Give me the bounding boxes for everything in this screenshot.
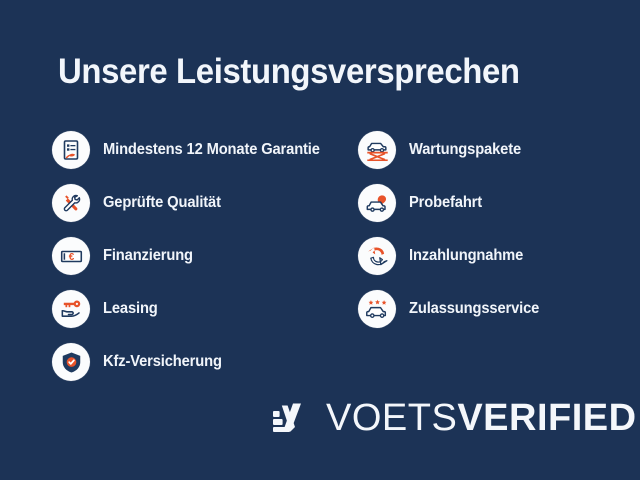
- benefit-label: Kfz-Versicherung: [103, 353, 222, 371]
- logo-verified: VERIFIED: [457, 397, 636, 439]
- promo-banner: Unsere Leistungsversprechen Mindestens: [0, 0, 640, 480]
- car-with-stars-icon: [358, 290, 396, 328]
- benefit-item-zulassungsservice: Zulassungsservice: [358, 283, 640, 335]
- svg-text:€: €: [68, 252, 74, 263]
- benefits-column-right: Wartungspakete Probefahrt: [330, 124, 640, 389]
- key-in-hand-icon: [52, 290, 90, 328]
- benefit-label: Mindestens 12 Monate Garantie: [103, 141, 320, 159]
- wrench-screwdriver-icon: [52, 184, 90, 222]
- benefit-item-qualitaet: Geprüfte Qualität: [52, 177, 330, 229]
- benefits-columns: Mindestens 12 Monate Garantie Geprüfte Q…: [0, 124, 640, 389]
- benefit-item-inzahlungnahme: Inzahlungnahme: [358, 230, 640, 282]
- voets-verified-logo: VOETSVERIFIED: [268, 396, 637, 440]
- benefit-item-probefahrt: Probefahrt: [358, 177, 640, 229]
- benefit-label: Probefahrt: [409, 194, 482, 212]
- logo-voets: VOETS: [326, 397, 457, 439]
- shield-check-icon: [52, 343, 90, 381]
- benefit-item-garantie: Mindestens 12 Monate Garantie: [52, 124, 330, 176]
- benefit-item-wartungspakete: Wartungspakete: [358, 124, 640, 176]
- benefit-item-versicherung: Kfz-Versicherung: [52, 336, 330, 388]
- benefit-item-finanzierung: € Finanzierung: [52, 230, 330, 282]
- voets-check-v-icon: [268, 396, 312, 440]
- benefit-label: Inzahlungnahme: [409, 247, 523, 265]
- benefit-item-leasing: Leasing: [52, 283, 330, 335]
- benefit-label: Geprüfte Qualität: [103, 194, 221, 212]
- page-title: Unsere Leistungsversprechen: [58, 52, 520, 92]
- euro-banknote-icon: €: [52, 237, 90, 275]
- exchange-arrows-icon: [358, 237, 396, 275]
- benefit-label: Finanzierung: [103, 247, 193, 265]
- logo-wordmark: VOETSVERIFIED: [326, 399, 637, 437]
- car-on-lift-icon: [358, 131, 396, 169]
- benefit-label: Zulassungsservice: [409, 300, 539, 318]
- benefits-column-left: Mindestens 12 Monate Garantie Geprüfte Q…: [0, 124, 330, 389]
- benefit-label: Wartungspakete: [409, 141, 521, 159]
- certificate-document-icon: [52, 131, 90, 169]
- car-with-flag-icon: [358, 184, 396, 222]
- benefit-label: Leasing: [103, 300, 158, 318]
